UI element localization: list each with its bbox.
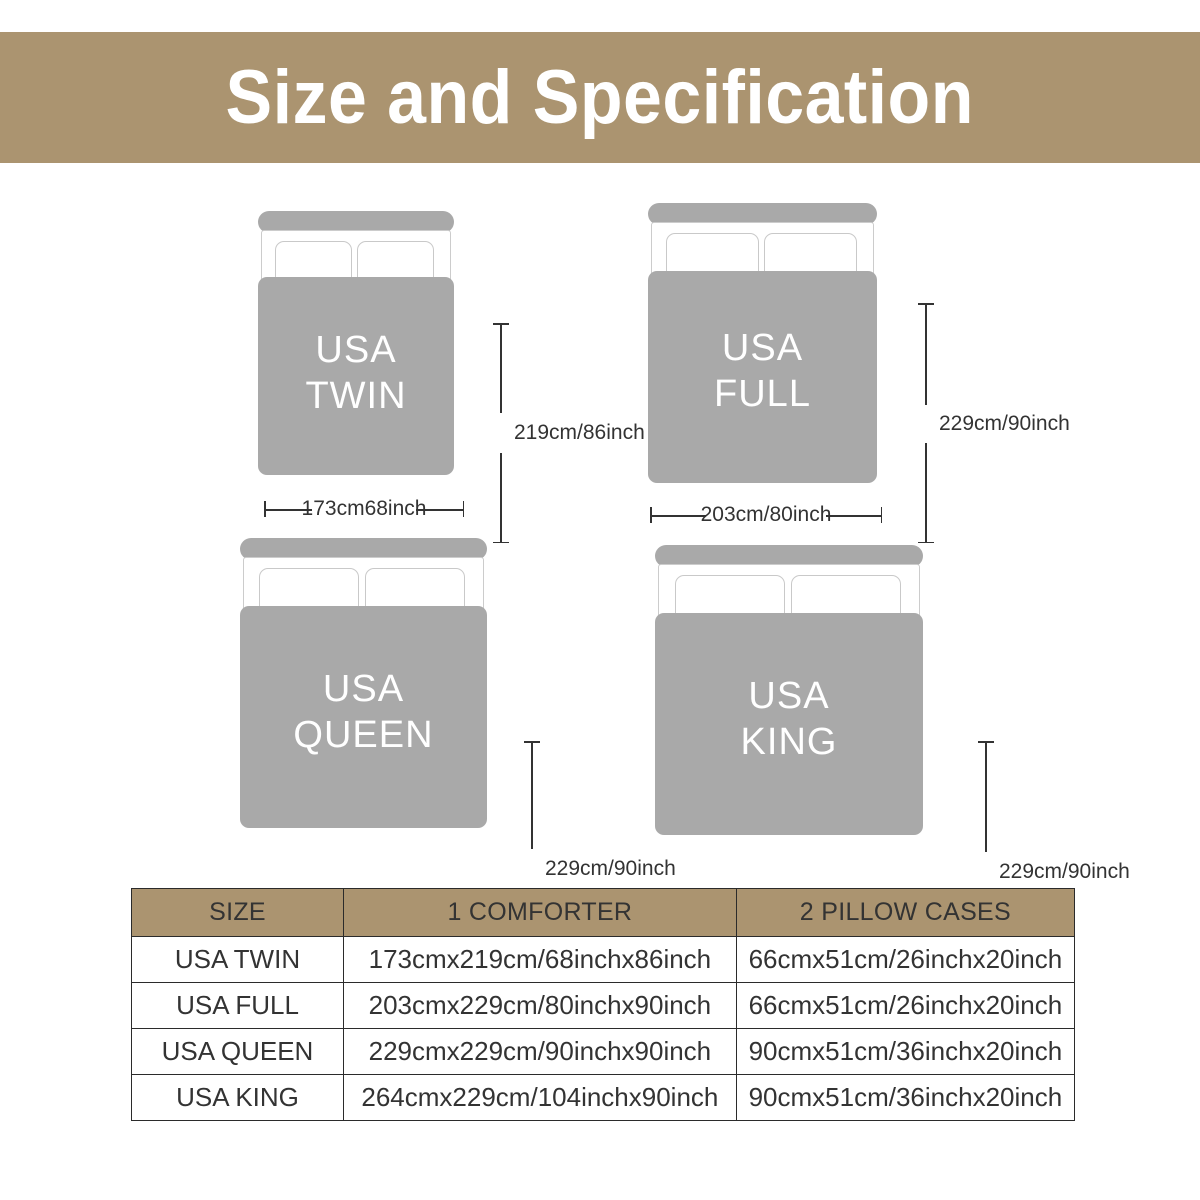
bed-diagram-usa-twin: USA TWIN 219cm/86inch 173cm68inch <box>258 211 598 511</box>
table-row: USA QUEEN 229cmx229cm/90inchx90inch 90cm… <box>132 1029 1075 1075</box>
comforter <box>655 613 923 835</box>
bed-diagram-usa-king: USA KING 229cm/90inch 264cm/104inch <box>655 545 1095 865</box>
dimension-line-upper <box>925 303 927 405</box>
page-title: Size and Specification <box>226 60 974 136</box>
bed-graphic-usa-twin: USA TWIN <box>258 211 454 471</box>
dimension-width-usa-twin: 173cm68inch <box>264 499 464 519</box>
dimension-line-upper <box>531 741 533 849</box>
cell-size: USA TWIN <box>132 937 344 983</box>
dimension-cap-right <box>463 501 465 517</box>
dimension-line-lower <box>500 453 502 543</box>
column-header-size: SIZE <box>132 889 344 937</box>
dimension-width-label: 203cm/80inch <box>701 503 832 527</box>
dimension-line-upper <box>985 741 987 852</box>
comforter <box>240 606 487 828</box>
dimension-cap-bottom <box>918 542 934 544</box>
dimension-line-lower <box>925 443 927 543</box>
table-row: USA KING 264cmx229cm/104inchx90inch 90cm… <box>132 1075 1075 1121</box>
cell-comforter: 229cmx229cm/90inchx90inch <box>343 1029 736 1075</box>
table-header-row: SIZE 1 COMFORTER 2 PILLOW CASES <box>132 889 1075 937</box>
cell-size: USA KING <box>132 1075 344 1121</box>
dimension-width-label: 173cm68inch <box>302 497 427 521</box>
cell-comforter: 203cmx229cm/80inchx90inch <box>343 983 736 1029</box>
cell-pillow-cases: 66cmx51cm/26inchx20inch <box>736 937 1074 983</box>
bed-diagrams-area: USA TWIN 219cm/86inch 173cm68inch <box>0 163 1200 875</box>
cell-pillow-cases: 90cmx51cm/36inchx20inch <box>736 1075 1074 1121</box>
cell-comforter: 264cmx229cm/104inchx90inch <box>343 1075 736 1121</box>
cell-pillow-cases: 66cmx51cm/26inchx20inch <box>736 983 1074 1029</box>
dimension-width-usa-full: 203cm/80inch <box>650 505 882 525</box>
column-header-pillow-cases: 2 PILLOW CASES <box>736 889 1074 937</box>
header-banner: Size and Specification <box>0 32 1200 163</box>
bed-graphic-usa-full: USA FULL <box>648 203 877 478</box>
table-row: USA FULL 203cmx229cm/80inchx90inch 66cmx… <box>132 983 1075 1029</box>
bed-graphic-usa-queen: USA QUEEN <box>240 538 487 823</box>
dimension-line-upper <box>500 323 502 413</box>
dimension-line-right <box>826 515 882 517</box>
bed-diagram-usa-queen: USA QUEEN 229cm/90inch 229cm/90inch <box>240 538 640 858</box>
bed-diagram-usa-full: USA FULL 229cm/90inch 203cm/80inch <box>648 203 1048 523</box>
dimension-height-label: 219cm/86inch <box>514 421 645 445</box>
dimension-height-label: 229cm/90inch <box>999 860 1130 884</box>
column-header-comforter: 1 COMFORTER <box>343 889 736 937</box>
table-row: USA TWIN 173cmx219cm/68inchx86inch 66cmx… <box>132 937 1075 983</box>
cell-size: USA FULL <box>132 983 344 1029</box>
dimension-line-left <box>650 515 706 517</box>
cell-pillow-cases: 90cmx51cm/36inchx20inch <box>736 1029 1074 1075</box>
cell-size: USA QUEEN <box>132 1029 344 1075</box>
dimension-cap-right <box>881 507 883 523</box>
comforter <box>648 271 877 483</box>
specification-table: SIZE 1 COMFORTER 2 PILLOW CASES USA TWIN… <box>131 888 1075 1121</box>
comforter <box>258 277 454 475</box>
bed-graphic-usa-king: USA KING <box>655 545 923 830</box>
cell-comforter: 173cmx219cm/68inchx86inch <box>343 937 736 983</box>
dimension-height-label: 229cm/90inch <box>939 412 1070 436</box>
